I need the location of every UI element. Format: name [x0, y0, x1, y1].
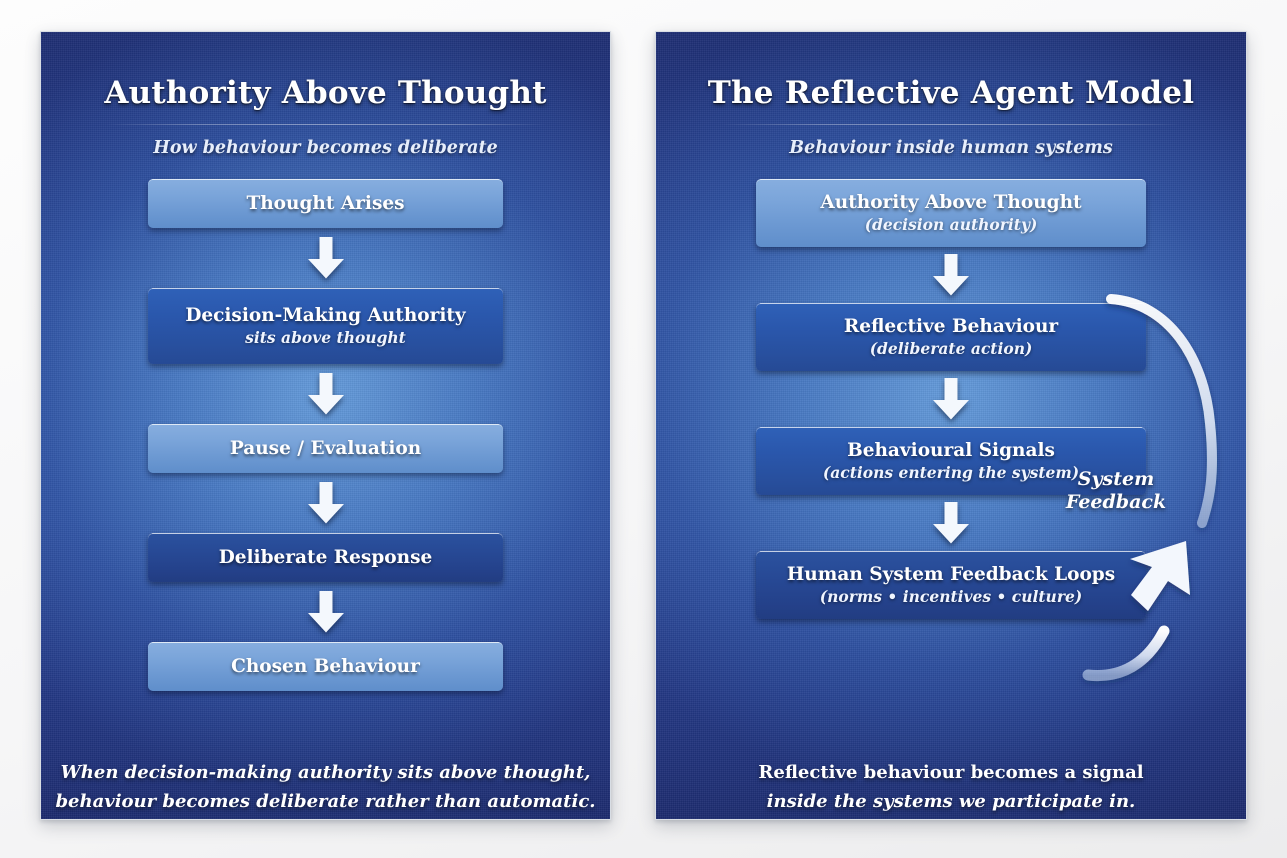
flow-chart-left: Thought Arises Decision-Making Authority… [41, 179, 610, 691]
panel-authority-above-thought: Authority Above Thought How behaviour be… [40, 31, 611, 820]
diagram-canvas: Authority Above Thought How behaviour be… [0, 0, 1287, 858]
panel-footer-line2: inside the systems we participate in. [656, 787, 1246, 816]
arrow-down-icon [307, 591, 345, 633]
arrow-down-icon [932, 378, 970, 420]
flow-node-subtitle: sits above thought [245, 329, 406, 347]
flow-node-title: Thought Arises [246, 193, 404, 214]
flow-node[interactable]: Pause / Evaluation [148, 424, 503, 473]
flow-node-subtitle: (norms • incentives • culture) [820, 588, 1082, 606]
panel-title: The Reflective Agent Model [656, 75, 1246, 111]
panel-subtitle: Behaviour inside human systems [656, 138, 1246, 158]
arrow-down-icon [932, 254, 970, 296]
flow-node[interactable]: Reflective Behaviour (deliberate action) [756, 303, 1146, 371]
flow-node[interactable]: Human System Feedback Loops (norms • inc… [756, 551, 1146, 619]
flow-node[interactable]: Chosen Behaviour [148, 642, 503, 691]
panel-footer-line1: When decision-making authority sits abov… [41, 758, 610, 787]
arrow-down-icon [307, 237, 345, 279]
title-divider [106, 124, 546, 125]
panel-subtitle: How behaviour becomes deliberate [41, 138, 610, 158]
flow-node-title: Authority Above Thought [820, 192, 1081, 213]
flow-node[interactable]: Decision-Making Authority sits above tho… [148, 288, 503, 364]
flow-node-title: Human System Feedback Loops [787, 564, 1115, 585]
flow-node-title: Reflective Behaviour [844, 316, 1058, 337]
flow-node-title: Decision-Making Authority [185, 305, 465, 326]
flow-node[interactable]: Authority Above Thought (decision author… [756, 179, 1146, 247]
panel-title: Authority Above Thought [41, 75, 610, 111]
panel-footer: Reflective behaviour becomes a signal in… [656, 758, 1246, 816]
arrow-down-icon [307, 482, 345, 524]
panel-footer-line2: behaviour becomes deliberate rather than… [41, 787, 610, 816]
flow-node[interactable]: Deliberate Response [148, 533, 503, 582]
flow-node-title: Chosen Behaviour [231, 656, 420, 677]
flow-node[interactable]: Behavioural Signals (actions entering th… [756, 427, 1146, 495]
flow-node[interactable]: Thought Arises [148, 179, 503, 228]
flow-node-subtitle: (deliberate action) [870, 340, 1033, 358]
panel-footer-line1: Reflective behaviour becomes a signal [656, 758, 1246, 787]
arrow-down-icon [307, 373, 345, 415]
title-divider [721, 124, 1181, 125]
flow-chart-right: Authority Above Thought (decision author… [656, 179, 1246, 619]
flow-node-title: Deliberate Response [219, 547, 433, 568]
panel-reflective-agent-model: The Reflective Agent Model Behaviour ins… [655, 31, 1247, 820]
flow-node-subtitle: (actions entering the system) [823, 464, 1079, 482]
flow-node-title: Behavioural Signals [847, 440, 1055, 461]
arrow-down-icon [932, 502, 970, 544]
panel-footer: When decision-making authority sits abov… [41, 758, 610, 816]
flow-node-subtitle: (decision authority) [865, 216, 1038, 234]
flow-node-title: Pause / Evaluation [230, 438, 421, 459]
